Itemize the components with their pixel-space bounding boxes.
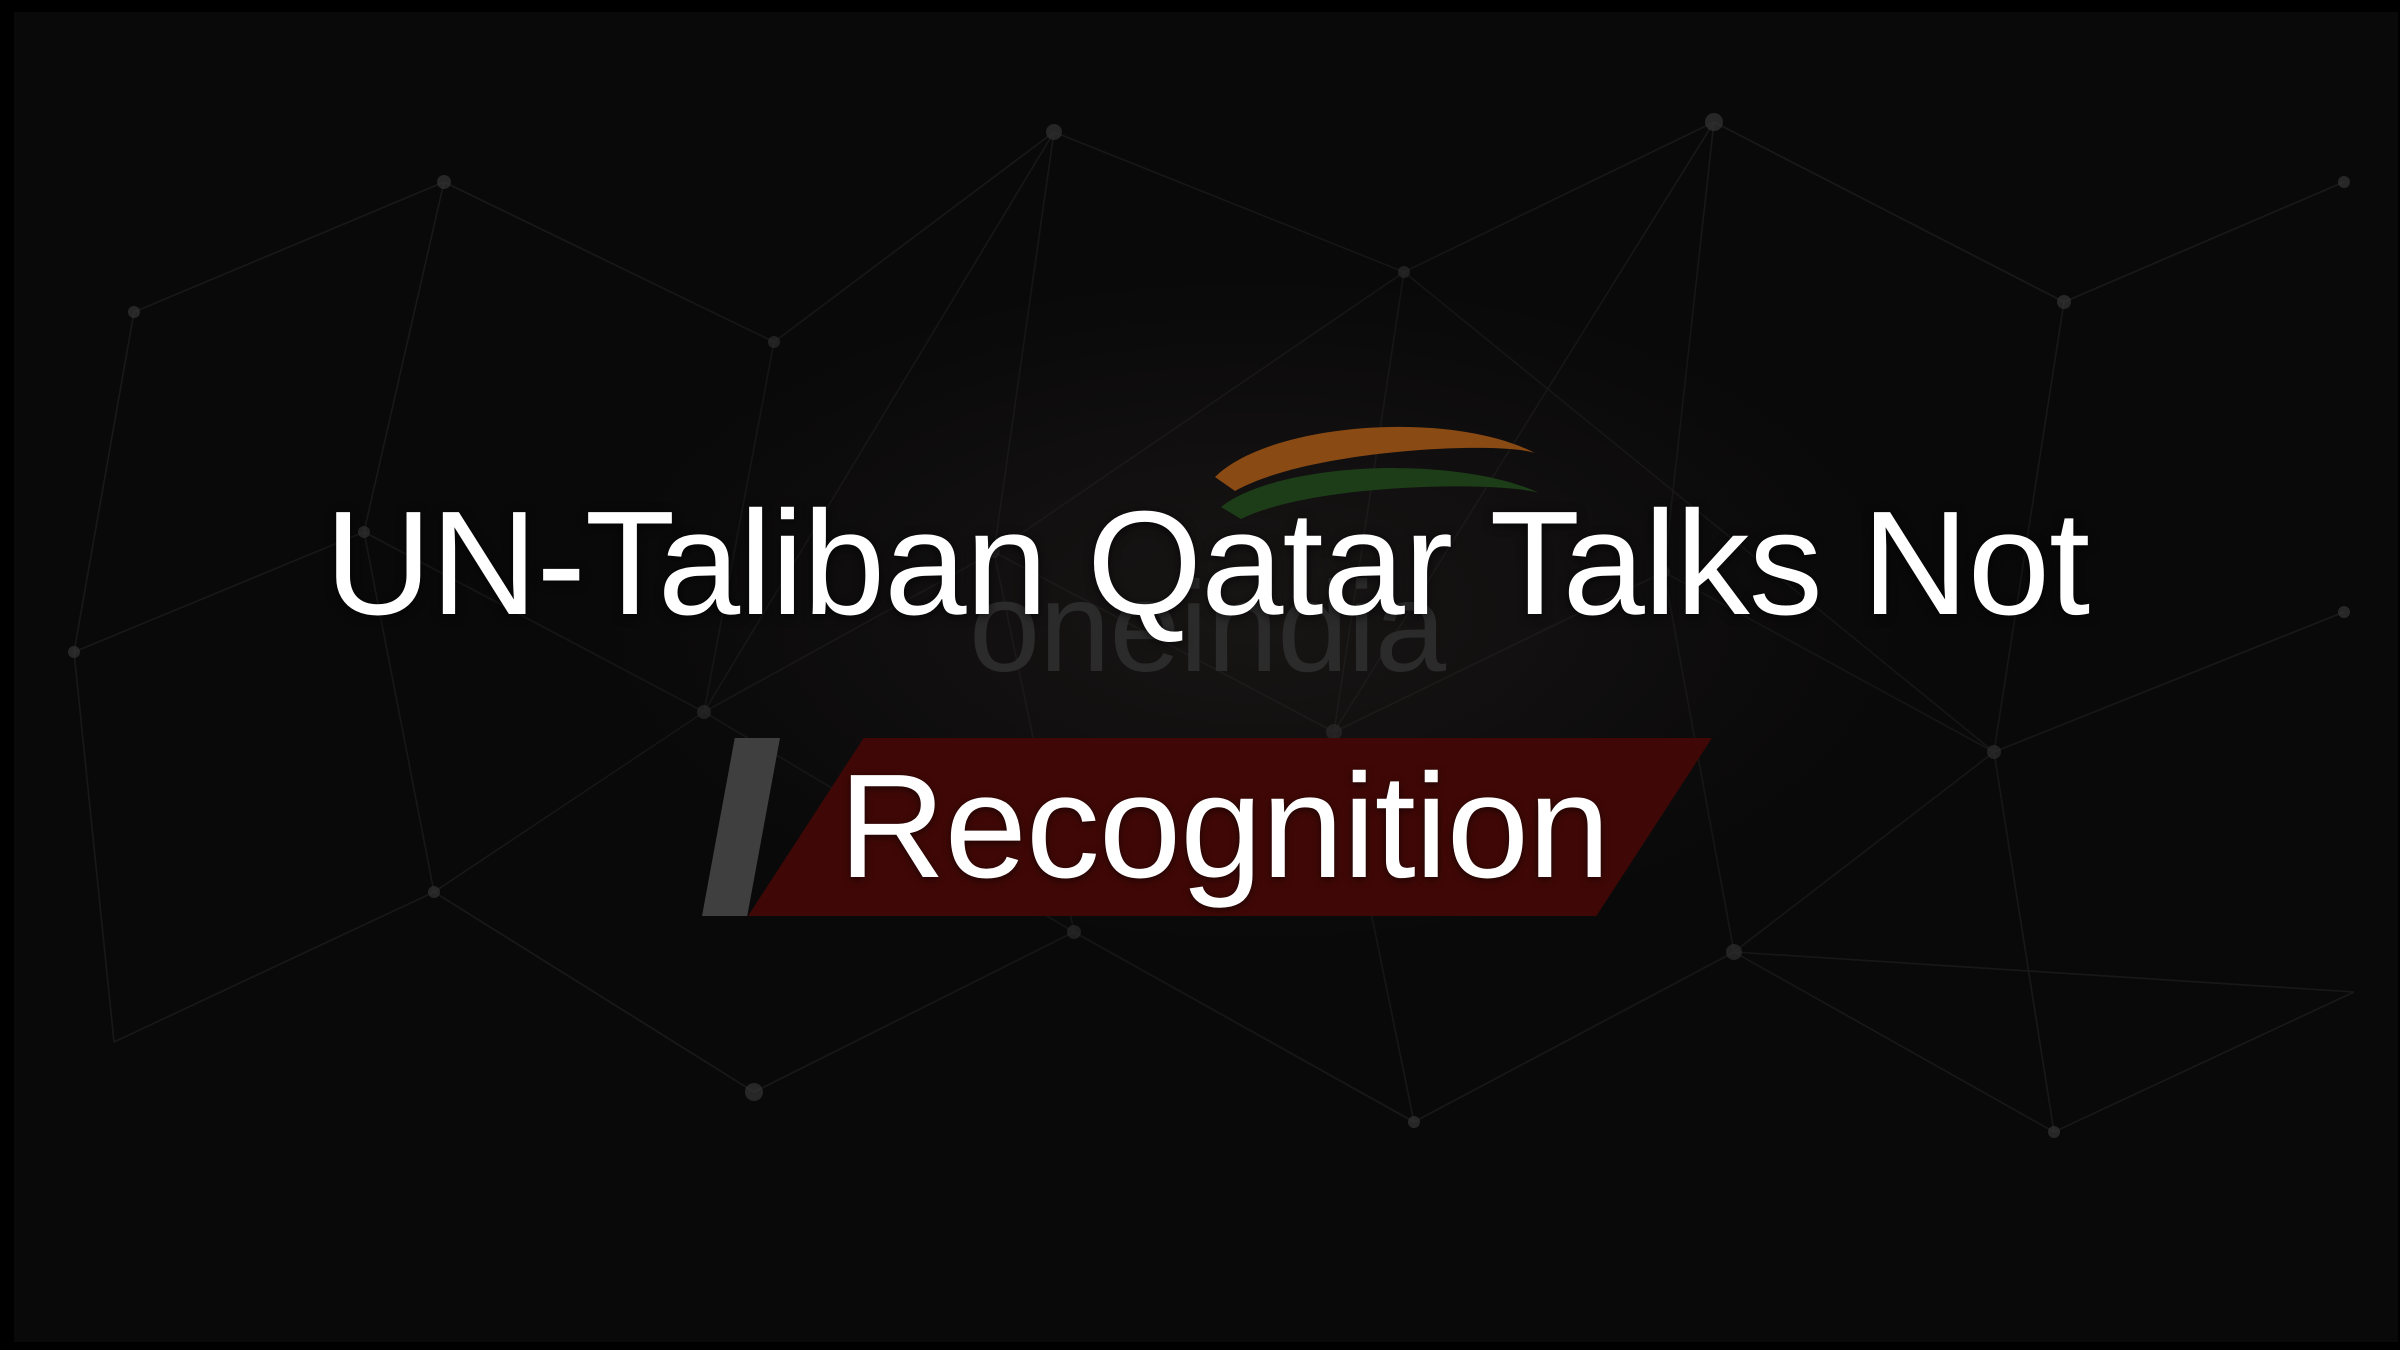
network-node-pattern-icon <box>14 12 2400 1342</box>
border-left <box>0 0 14 1350</box>
headline-banner: Recognition <box>14 738 2400 938</box>
border-top <box>0 0 2400 12</box>
thumbnail-card: oneindia News Byte UN-Taliban Qatar Talk… <box>0 0 2400 1350</box>
banner-shape: Recognition <box>702 738 1712 916</box>
banner-label: Recognition <box>702 738 1712 916</box>
border-bottom <box>0 1342 2400 1350</box>
card-canvas: oneindia News Byte UN-Taliban Qatar Talk… <box>14 12 2400 1342</box>
page-title: UN-Taliban Qatar Talks Not <box>14 490 2400 638</box>
